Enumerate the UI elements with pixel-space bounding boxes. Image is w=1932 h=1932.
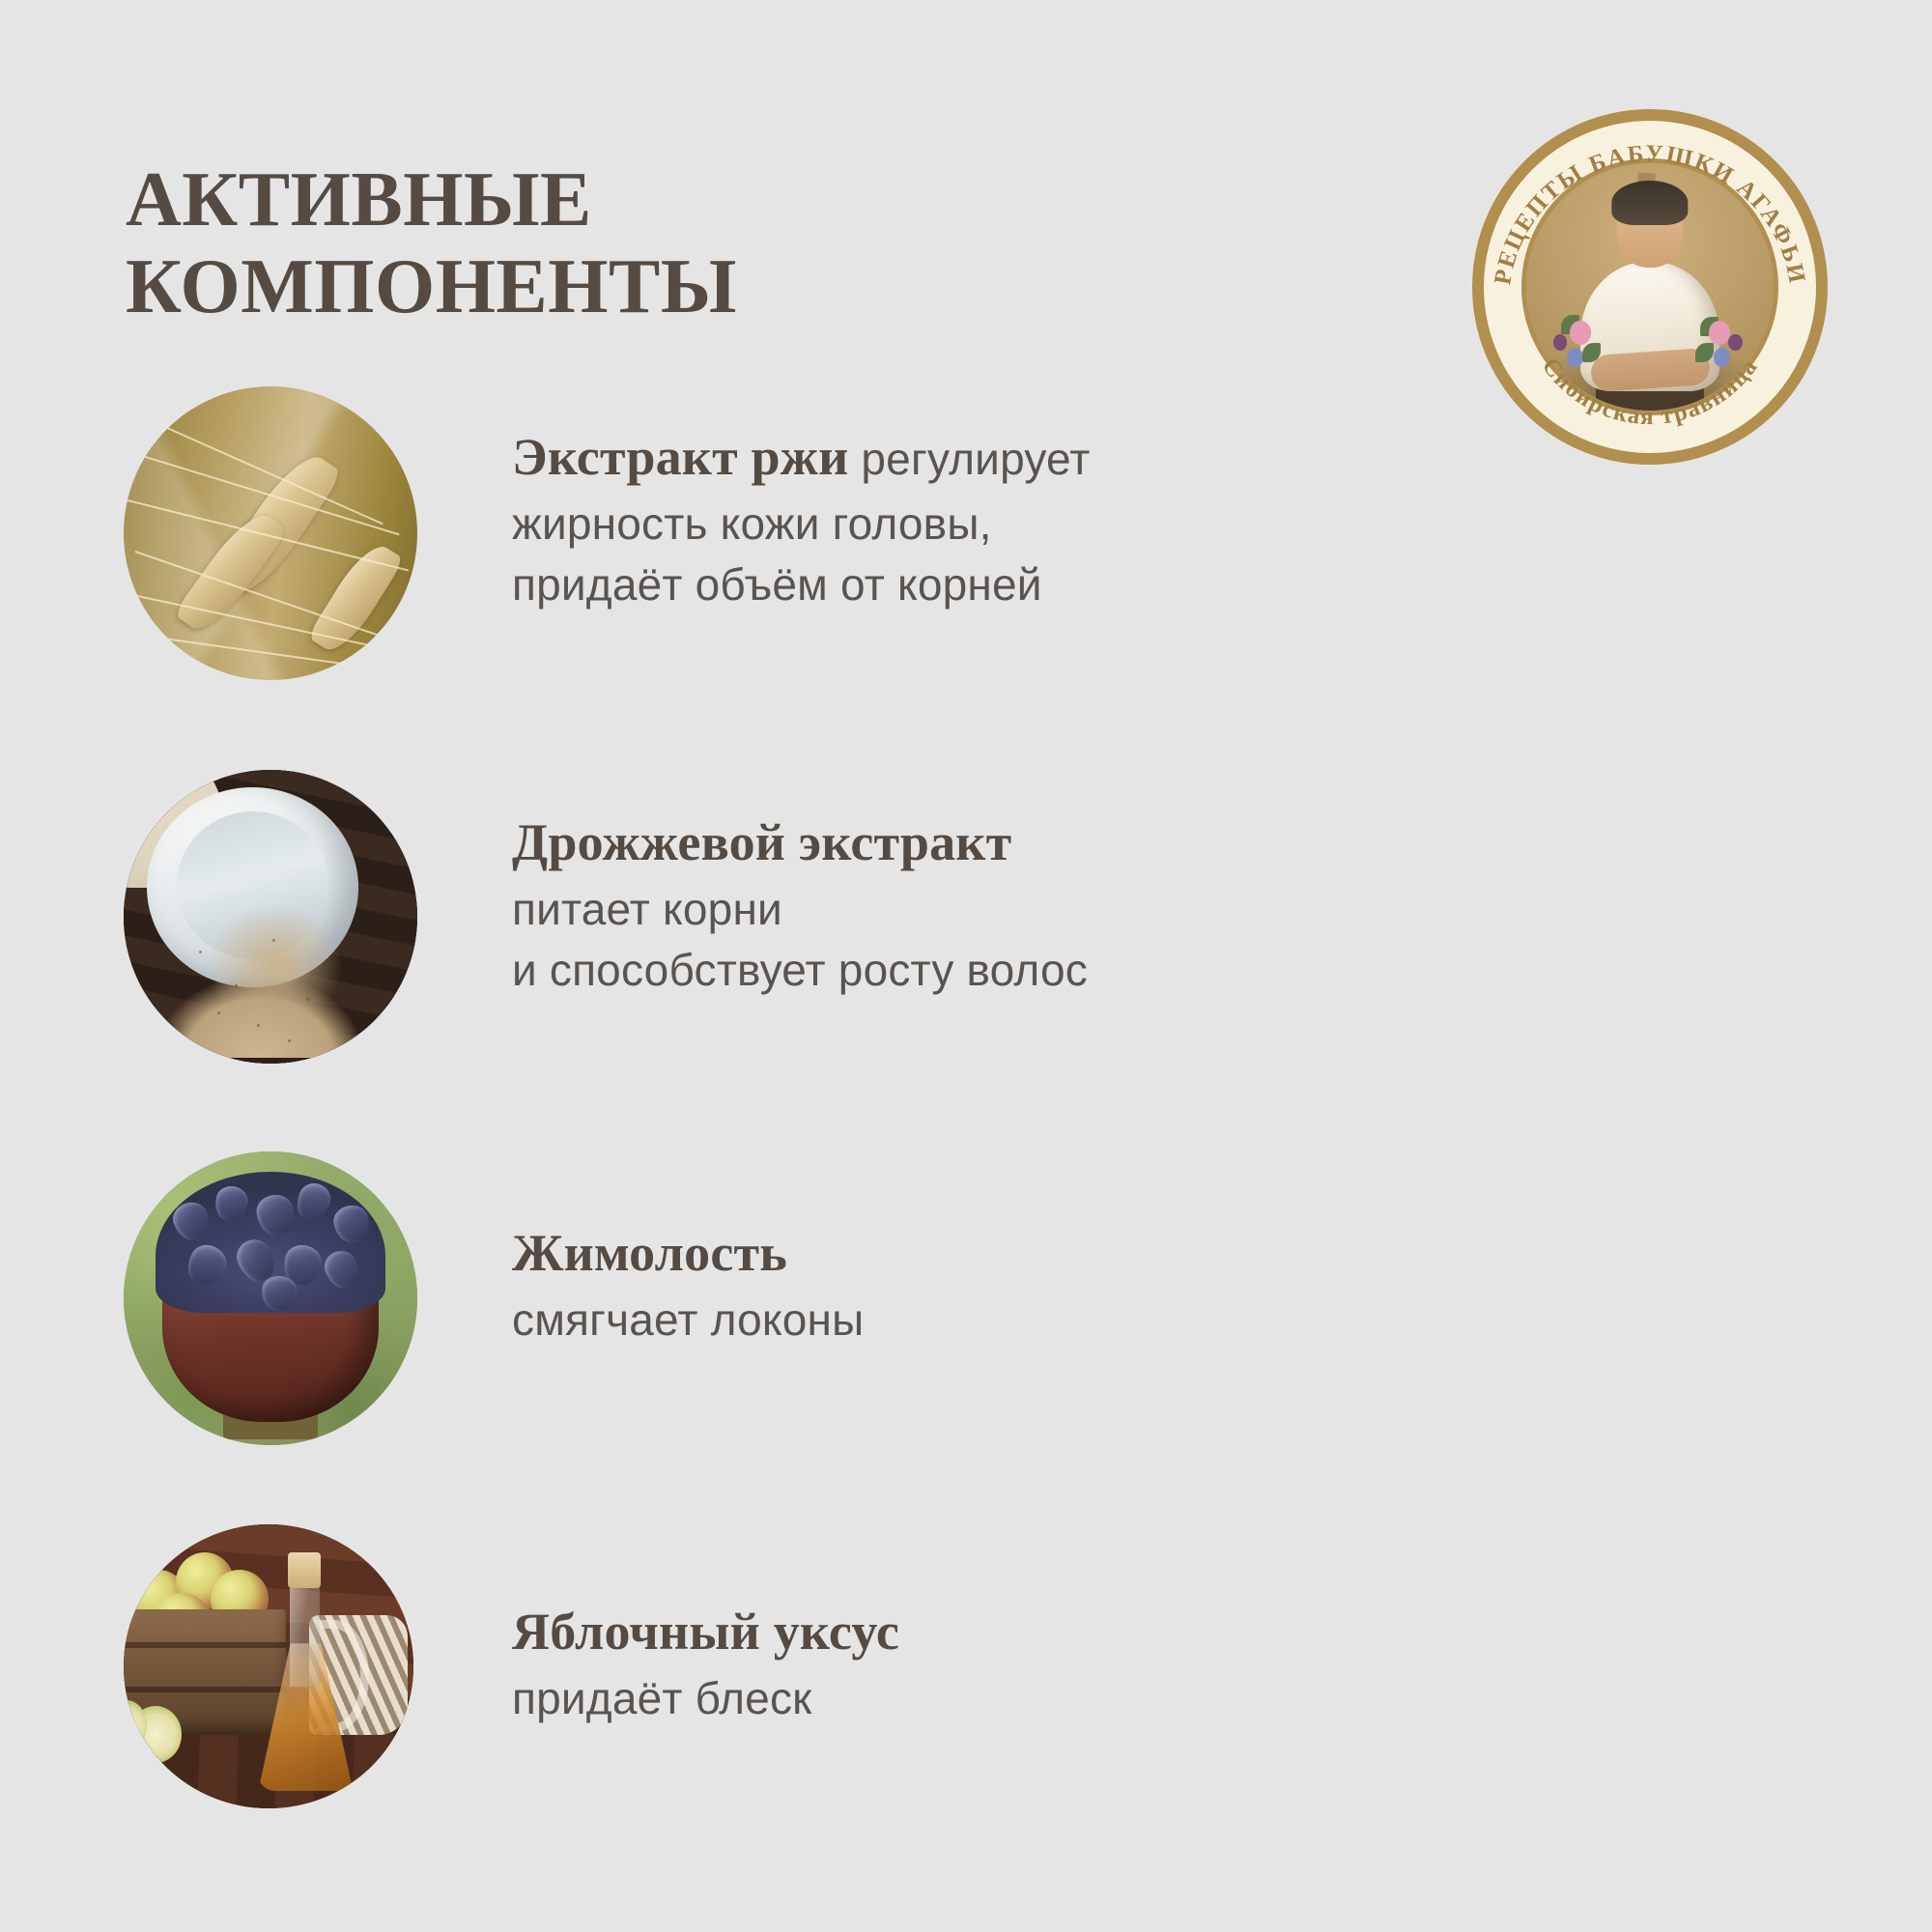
yeast-scene xyxy=(124,770,417,1064)
flower-cluster-left-icon xyxy=(1551,301,1605,376)
ingredient-name: Экстракт ржи xyxy=(512,428,848,486)
ingredient-desc-line: и способствует росту волос xyxy=(512,940,1719,1001)
ingredient-text-apple-cider-vinegar: Яблочный уксус придаёт блеск xyxy=(512,1524,1719,1729)
ingredient-headline: Жимолость xyxy=(512,1217,1719,1290)
ingredient-name: Жимолость xyxy=(512,1224,787,1282)
honeysuckle-berries-photo xyxy=(124,1151,417,1445)
ingredient-row-rye-extract: Экстракт ржи регулирует жирность кожи го… xyxy=(0,386,1932,686)
berry-scene xyxy=(124,1151,417,1445)
ingredient-desc-line: придаёт блеск xyxy=(512,1668,1719,1729)
ingredient-row-apple-cider-vinegar: Яблочный уксус придаёт блеск xyxy=(0,1524,1932,1814)
ingredient-text-rye-extract: Экстракт ржи регулирует жирность кожи го… xyxy=(512,386,1719,615)
page-title-line-1: АКТИВНЫЕ xyxy=(126,156,995,243)
yeast-granules-photo xyxy=(124,770,417,1064)
cruet-neck xyxy=(290,1581,320,1687)
glass-vinegar-cruet xyxy=(251,1552,367,1791)
cruet-cork xyxy=(288,1552,321,1588)
ingredient-row-honeysuckle: Жимолость смягчает локоны xyxy=(0,1151,1932,1451)
ingredient-row-yeast-extract: Дрожжевой экстракт питает корни и способ… xyxy=(0,770,1932,1069)
rye-field-background xyxy=(124,386,417,680)
page-title-line-2: КОМПОНЕНТЫ xyxy=(126,243,995,330)
spilled-yeast-granules xyxy=(158,905,382,1058)
ingredient-text-honeysuckle: Жимолость смягчает локоны xyxy=(512,1151,1719,1350)
ingredient-desc-inline: регулирует xyxy=(848,434,1090,484)
page-title: АКТИВНЫЕ КОМПОНЕНТЫ xyxy=(126,156,995,331)
ingredient-desc-line: придаёт объём от корней xyxy=(512,554,1719,615)
ingredient-desc-line: питает корни xyxy=(512,879,1719,940)
ingredients-infographic: АКТИВНЫЕ КОМПОНЕНТЫ xyxy=(0,0,1932,1932)
ingredient-headline: Дрожжевой экстракт xyxy=(512,807,1719,879)
rye-ears-photo xyxy=(124,386,417,680)
vinegar-scene xyxy=(124,1524,413,1808)
ingredient-headline: Яблочный уксус xyxy=(512,1596,1719,1668)
ingredient-text-yeast-extract: Дрожжевой экстракт питает корни и способ… xyxy=(512,770,1719,1001)
ingredient-headline: Экстракт ржи регулирует xyxy=(512,421,1719,494)
ingredient-name: Яблочный уксус xyxy=(512,1603,899,1661)
flower-cluster-right-icon xyxy=(1694,301,1748,376)
ingredient-desc-line: жирность кожи головы, xyxy=(512,494,1719,554)
ingredient-desc-line: смягчает локоны xyxy=(512,1290,1719,1350)
apple-cider-vinegar-photo xyxy=(124,1524,413,1808)
logo-portrait-medallion xyxy=(1526,163,1774,411)
portrait-hair xyxy=(1611,181,1688,225)
ingredient-name: Дрожжевой экстракт xyxy=(512,813,1011,871)
